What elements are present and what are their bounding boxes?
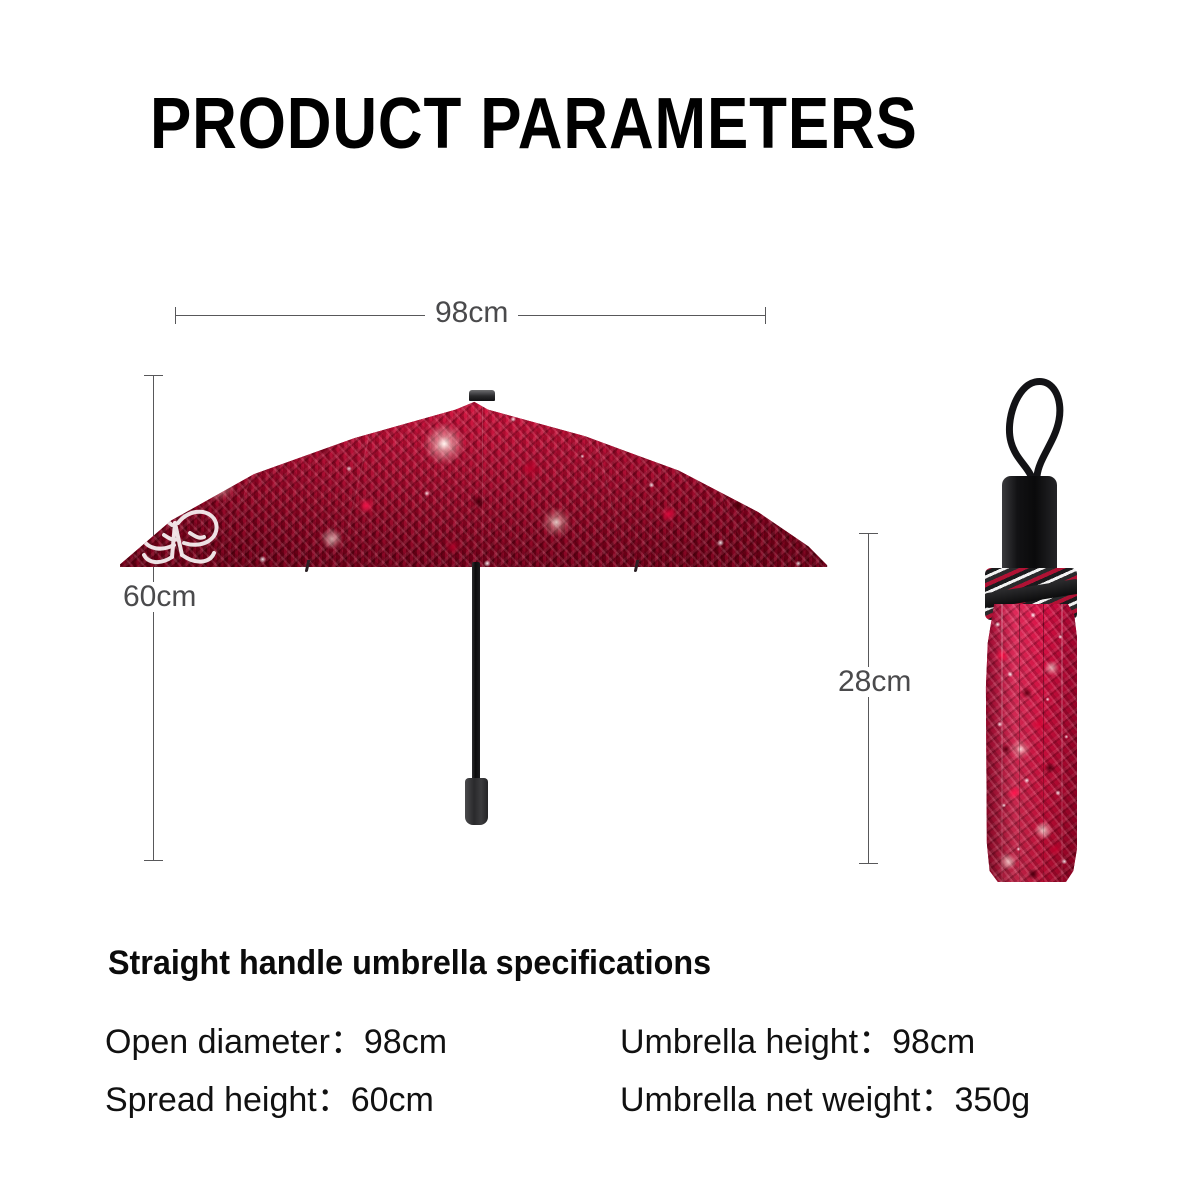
folded-crease [1001,604,1003,882]
open-umbrella [110,390,840,830]
dim-folded-label: 28cm [828,667,921,697]
spec-table: Open diameter：98cm Umbrella height：98cm … [105,1025,1115,1141]
dim-folded-line [868,533,869,863]
spec-row: Open diameter：98cm Umbrella height：98cm [105,1025,1115,1059]
folded-crease [1043,604,1044,882]
folded-handle [1002,476,1057,574]
spec-heading: Straight handle umbrella specifications [108,944,711,983]
wrist-strap [1003,372,1065,492]
folded-umbrella [975,372,1105,884]
butterfly-floral-artwork [112,413,342,567]
folded-glitter-texture [985,604,1077,882]
dim-width-label: 98cm [425,298,518,328]
dim-folded-cap-bottom [859,863,878,864]
dim-width-cap-right [765,307,766,324]
folded-body [985,604,1077,882]
spec-open-diameter: Open diameter：98cm [105,1025,620,1059]
umbrella-handle-grip [465,778,488,825]
umbrella-ferrule [469,390,495,401]
canopy-seam [482,395,483,567]
folded-crease [1019,604,1020,882]
spec-row: Spread height：60cm Umbrella net weight：3… [105,1083,1115,1117]
spec-umbrella-height: Umbrella height：98cm [620,1025,975,1059]
folded-crease [1061,604,1063,882]
dim-height-cap-bottom [144,860,163,861]
product-diagram: 98cm 60cm 28cm [0,0,1200,1200]
spec-spread-height: Spread height：60cm [105,1083,620,1117]
spec-net-weight: Umbrella net weight：350g [620,1083,1030,1117]
umbrella-canopy [110,395,830,567]
umbrella-shaft [472,562,480,780]
